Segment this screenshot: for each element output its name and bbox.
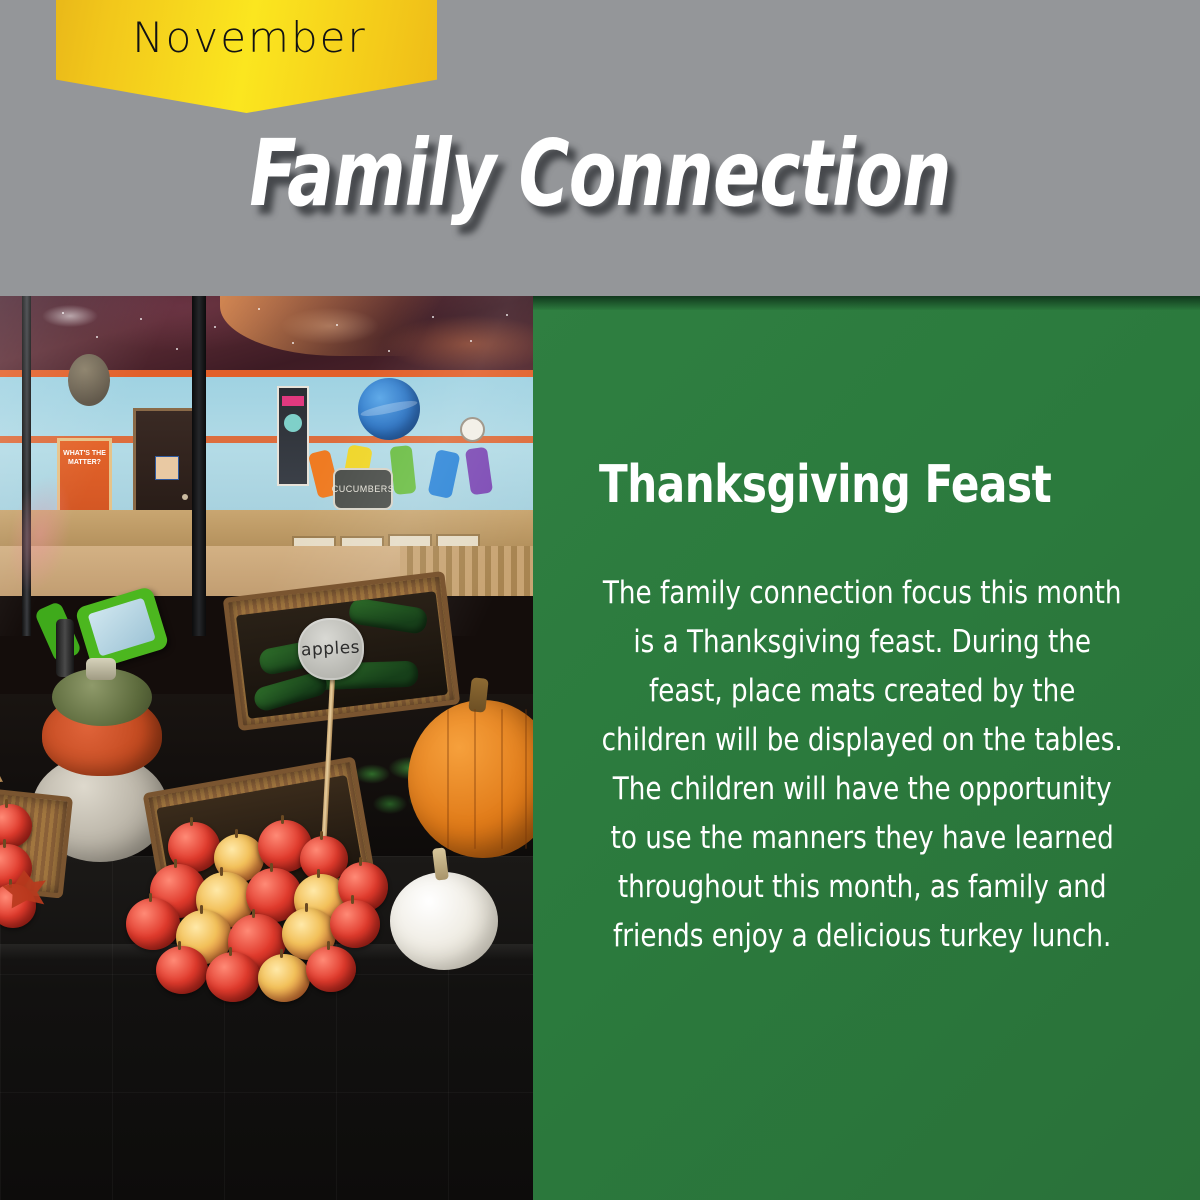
- mural-light-sweep: [220, 296, 533, 356]
- page-title: Family Connection: [96, 128, 1104, 220]
- header-band: November Family Connection: [0, 0, 1200, 296]
- wall-clock-icon: [460, 417, 485, 442]
- panel-top-strip: [533, 296, 1200, 310]
- apple: [206, 952, 260, 1002]
- window-mullion: [192, 296, 206, 636]
- gray-planet-decoration: [68, 354, 110, 406]
- month-ribbon: November: [56, 0, 437, 113]
- apples-sign: apples: [298, 618, 364, 680]
- cucumbers-sign: CUCUMBERS: [333, 468, 393, 510]
- panel-body-text: The family connection focus this month i…: [599, 569, 1125, 961]
- blue-planet-decoration: [358, 378, 420, 440]
- harvest-classroom-photo: WHAT'S THE MATTER? CUCUMBERS: [0, 296, 533, 1200]
- apple: [306, 946, 356, 992]
- apples-sign-label: apples: [301, 637, 361, 660]
- apple: [156, 946, 208, 994]
- panel-heading: Thanksgiving Feast: [599, 458, 1103, 513]
- apple: [330, 900, 380, 948]
- bulletin-board-text: WHAT'S THE MATTER?: [60, 449, 109, 467]
- white-pumpkin: [390, 872, 498, 970]
- wall-poster: [277, 386, 309, 486]
- turban-squash-cap: [52, 668, 152, 726]
- classroom-through-window: WHAT'S THE MATTER? CUCUMBERS: [0, 296, 533, 596]
- easel-arm: [56, 619, 74, 677]
- door-sign: [155, 456, 179, 480]
- apple: [126, 898, 180, 950]
- door-knob-icon: [182, 494, 188, 500]
- apple: [258, 954, 310, 1002]
- month-ribbon-label: November: [56, 0, 437, 80]
- content-panel: Thanksgiving Feast The family connection…: [533, 296, 1200, 1200]
- family-connection-poster: November Family Connection: [0, 0, 1200, 1200]
